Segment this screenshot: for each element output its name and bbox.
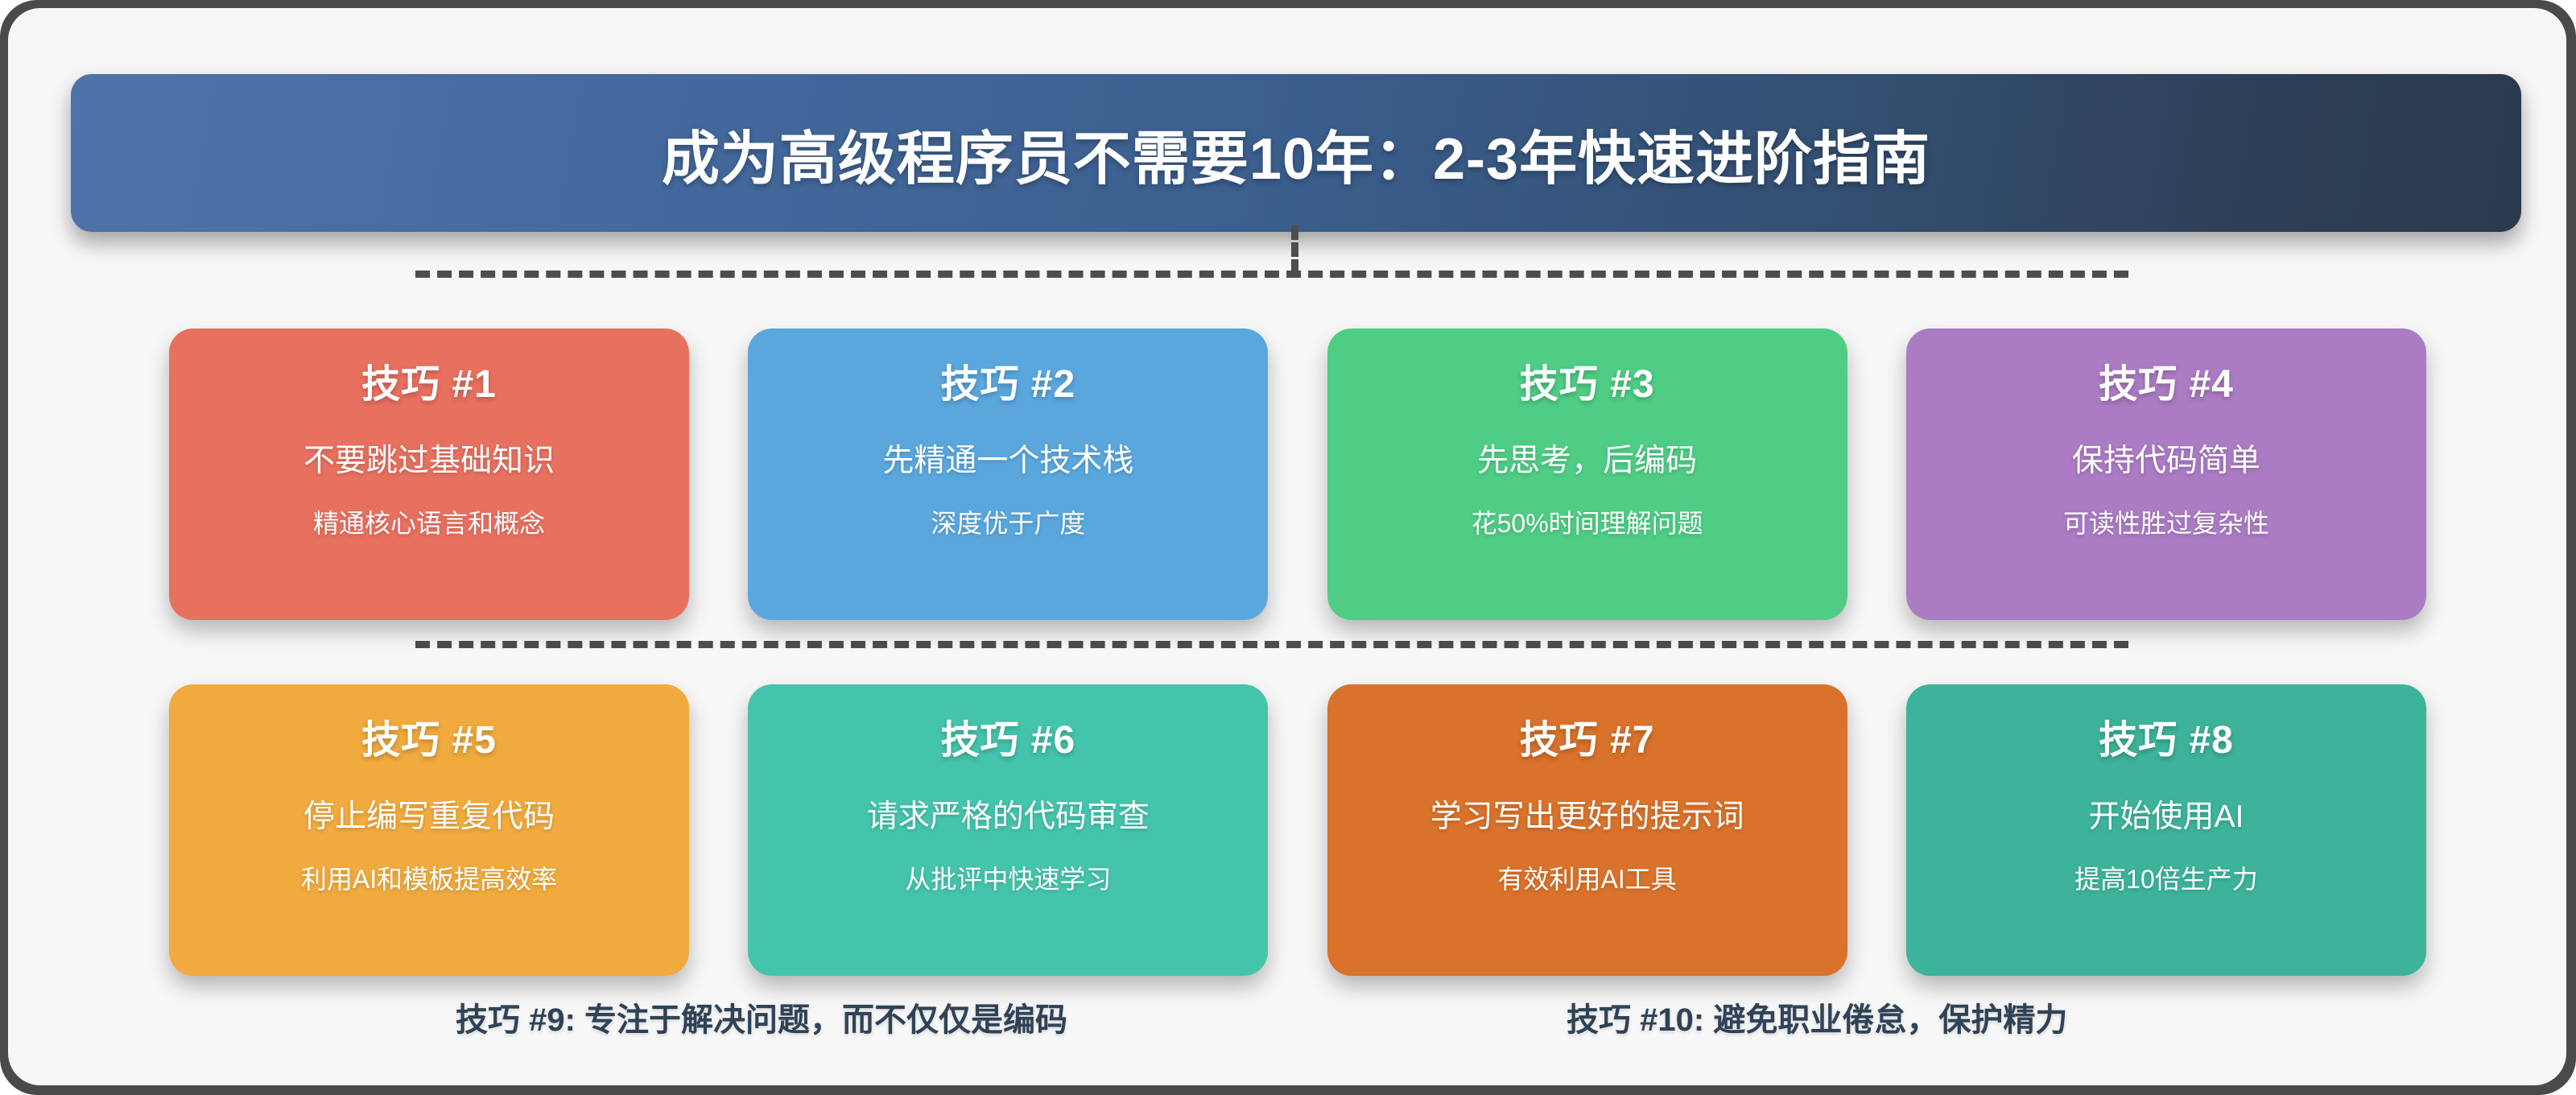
tip-card-3-sub: 花50%时间理解问题	[1472, 509, 1703, 539]
tip-card-7-label: 技巧 #7	[1520, 720, 1655, 762]
tip-card-2-headline: 先精通一个技术栈	[882, 444, 1133, 480]
infographic-frame: 成为高级程序员不需要10年：2-3年快速进阶指南 技巧 #1 不要跳过基础知识 …	[0, 0, 2576, 1095]
footer-note-tip-10: 技巧 #10: 避免职业倦怠，保护精力	[1567, 994, 2067, 1040]
tip-card-4-label: 技巧 #4	[2099, 364, 2234, 407]
infographic-canvas: 成为高级程序员不需要10年：2-3年快速进阶指南 技巧 #1 不要跳过基础知识 …	[8, 8, 2566, 1085]
tip-card-5[interactable]: 技巧 #5 停止编写重复代码 利用AI和模板提高效率	[169, 684, 689, 976]
tip-card-row-1: 技巧 #1 不要跳过基础知识 精通核心语言和概念 技巧 #2 先精通一个技术栈 …	[169, 328, 2426, 620]
tip-card-2-sub: 深度优于广度	[931, 509, 1085, 539]
tip-card-1[interactable]: 技巧 #1 不要跳过基础知识 精通核心语言和概念	[169, 328, 689, 620]
footer-notes: 技巧 #9: 专注于解决问题，而不仅仅是编码 技巧 #10: 避免职业倦怠，保护…	[169, 994, 2426, 1040]
title-banner: 成为高级程序员不需要10年：2-3年快速进阶指南	[71, 74, 2521, 232]
tip-card-1-sub: 精通核心语言和概念	[313, 509, 545, 539]
tip-card-6-label: 技巧 #6	[940, 720, 1075, 762]
tip-card-6-sub: 从批评中快速学习	[905, 865, 1111, 895]
tip-card-4-sub: 可读性胜过复杂性	[2063, 509, 2269, 539]
connector-stem-vertical	[1291, 225, 1298, 274]
tip-card-3-label: 技巧 #3	[1520, 364, 1655, 407]
tip-card-7[interactable]: 技巧 #7 学习写出更好的提示词 有效利用AI工具	[1327, 684, 1847, 976]
tip-card-6[interactable]: 技巧 #6 请求严格的代码审查 从批评中快速学习	[748, 684, 1268, 976]
tip-card-5-headline: 停止编写重复代码	[303, 800, 555, 836]
tip-card-1-label: 技巧 #1	[361, 364, 497, 407]
tip-card-row-2: 技巧 #5 停止编写重复代码 利用AI和模板提高效率 技巧 #6 请求严格的代码…	[169, 684, 2426, 976]
tip-card-5-label: 技巧 #5	[361, 720, 497, 762]
tip-card-2-label: 技巧 #2	[940, 364, 1075, 407]
tip-card-5-sub: 利用AI和模板提高效率	[301, 865, 557, 895]
tip-card-4[interactable]: 技巧 #4 保持代码简单 可读性胜过复杂性	[1906, 328, 2426, 620]
connector-line-row1	[415, 271, 2128, 278]
connector-line-row2	[415, 641, 2128, 648]
tip-card-2[interactable]: 技巧 #2 先精通一个技术栈 深度优于广度	[748, 328, 1268, 620]
tip-card-7-headline: 学习写出更好的提示词	[1430, 800, 1744, 836]
page-title: 成为高级程序员不需要10年：2-3年快速进阶指南	[662, 111, 1930, 196]
footer-note-tip-9: 技巧 #9: 专注于解决问题，而不仅仅是编码	[456, 994, 1067, 1040]
tip-card-8-headline: 开始使用AI	[2089, 800, 2244, 836]
tip-card-7-sub: 有效利用AI工具	[1498, 865, 1677, 895]
tip-card-4-headline: 保持代码简单	[2072, 444, 2260, 480]
tip-card-8[interactable]: 技巧 #8 开始使用AI 提高10倍生产力	[1906, 684, 2426, 976]
tip-card-8-sub: 提高10倍生产力	[2074, 865, 2258, 895]
tip-card-8-label: 技巧 #8	[2099, 720, 2234, 762]
tip-card-6-headline: 请求严格的代码审查	[867, 800, 1150, 836]
tip-card-3-headline: 先思考，后编码	[1477, 444, 1697, 480]
tip-card-1-headline: 不要跳过基础知识	[303, 444, 555, 480]
tip-card-3[interactable]: 技巧 #3 先思考，后编码 花50%时间理解问题	[1327, 328, 1847, 620]
